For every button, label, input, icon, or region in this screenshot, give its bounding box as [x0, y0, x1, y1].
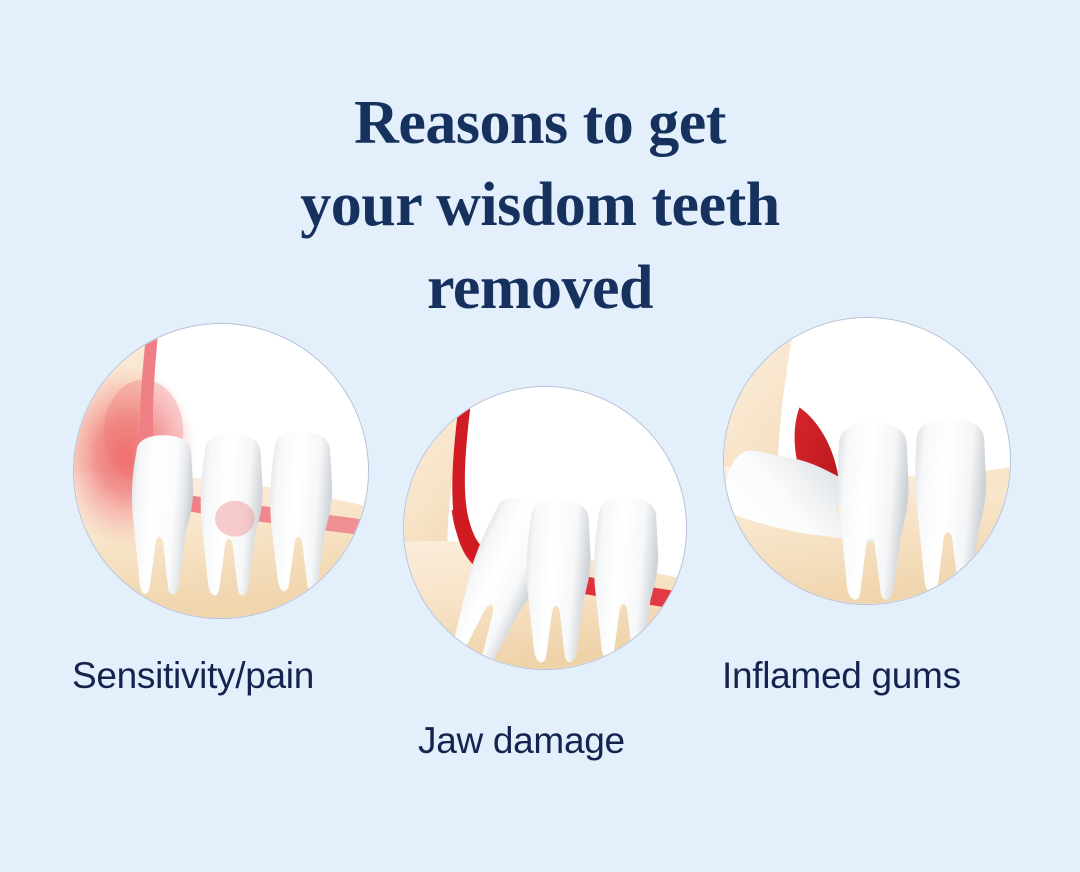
panel-inflamed-gums	[723, 317, 1011, 605]
page-title-line-2: your wisdom teeth	[0, 164, 1080, 246]
caption-jaw-damage: Jaw damage	[418, 720, 625, 762]
gum-redness-spot	[215, 501, 255, 537]
illustration-circle-sensitivity	[73, 323, 369, 619]
page-title-line-1: Reasons to get	[0, 82, 1080, 164]
illustration-circle-jaw-damage	[403, 386, 687, 670]
caption-sensitivity: Sensitivity/pain	[72, 655, 314, 697]
infographic-canvas: Reasons to get your wisdom teeth removed	[0, 0, 1080, 872]
inflamed-gum-sensitivity-icon	[74, 324, 368, 618]
impacted-wisdom-tooth-inflamed-gums-icon	[724, 318, 1010, 604]
page-title: Reasons to get your wisdom teeth removed	[0, 82, 1080, 329]
panel-jaw-damage	[403, 386, 687, 670]
panel-sensitivity	[73, 323, 369, 619]
illustration-circle-inflamed-gums	[723, 317, 1011, 605]
caption-inflamed-gums: Inflamed gums	[722, 655, 961, 697]
tilted-wisdom-tooth-jaw-damage-icon	[404, 387, 686, 669]
